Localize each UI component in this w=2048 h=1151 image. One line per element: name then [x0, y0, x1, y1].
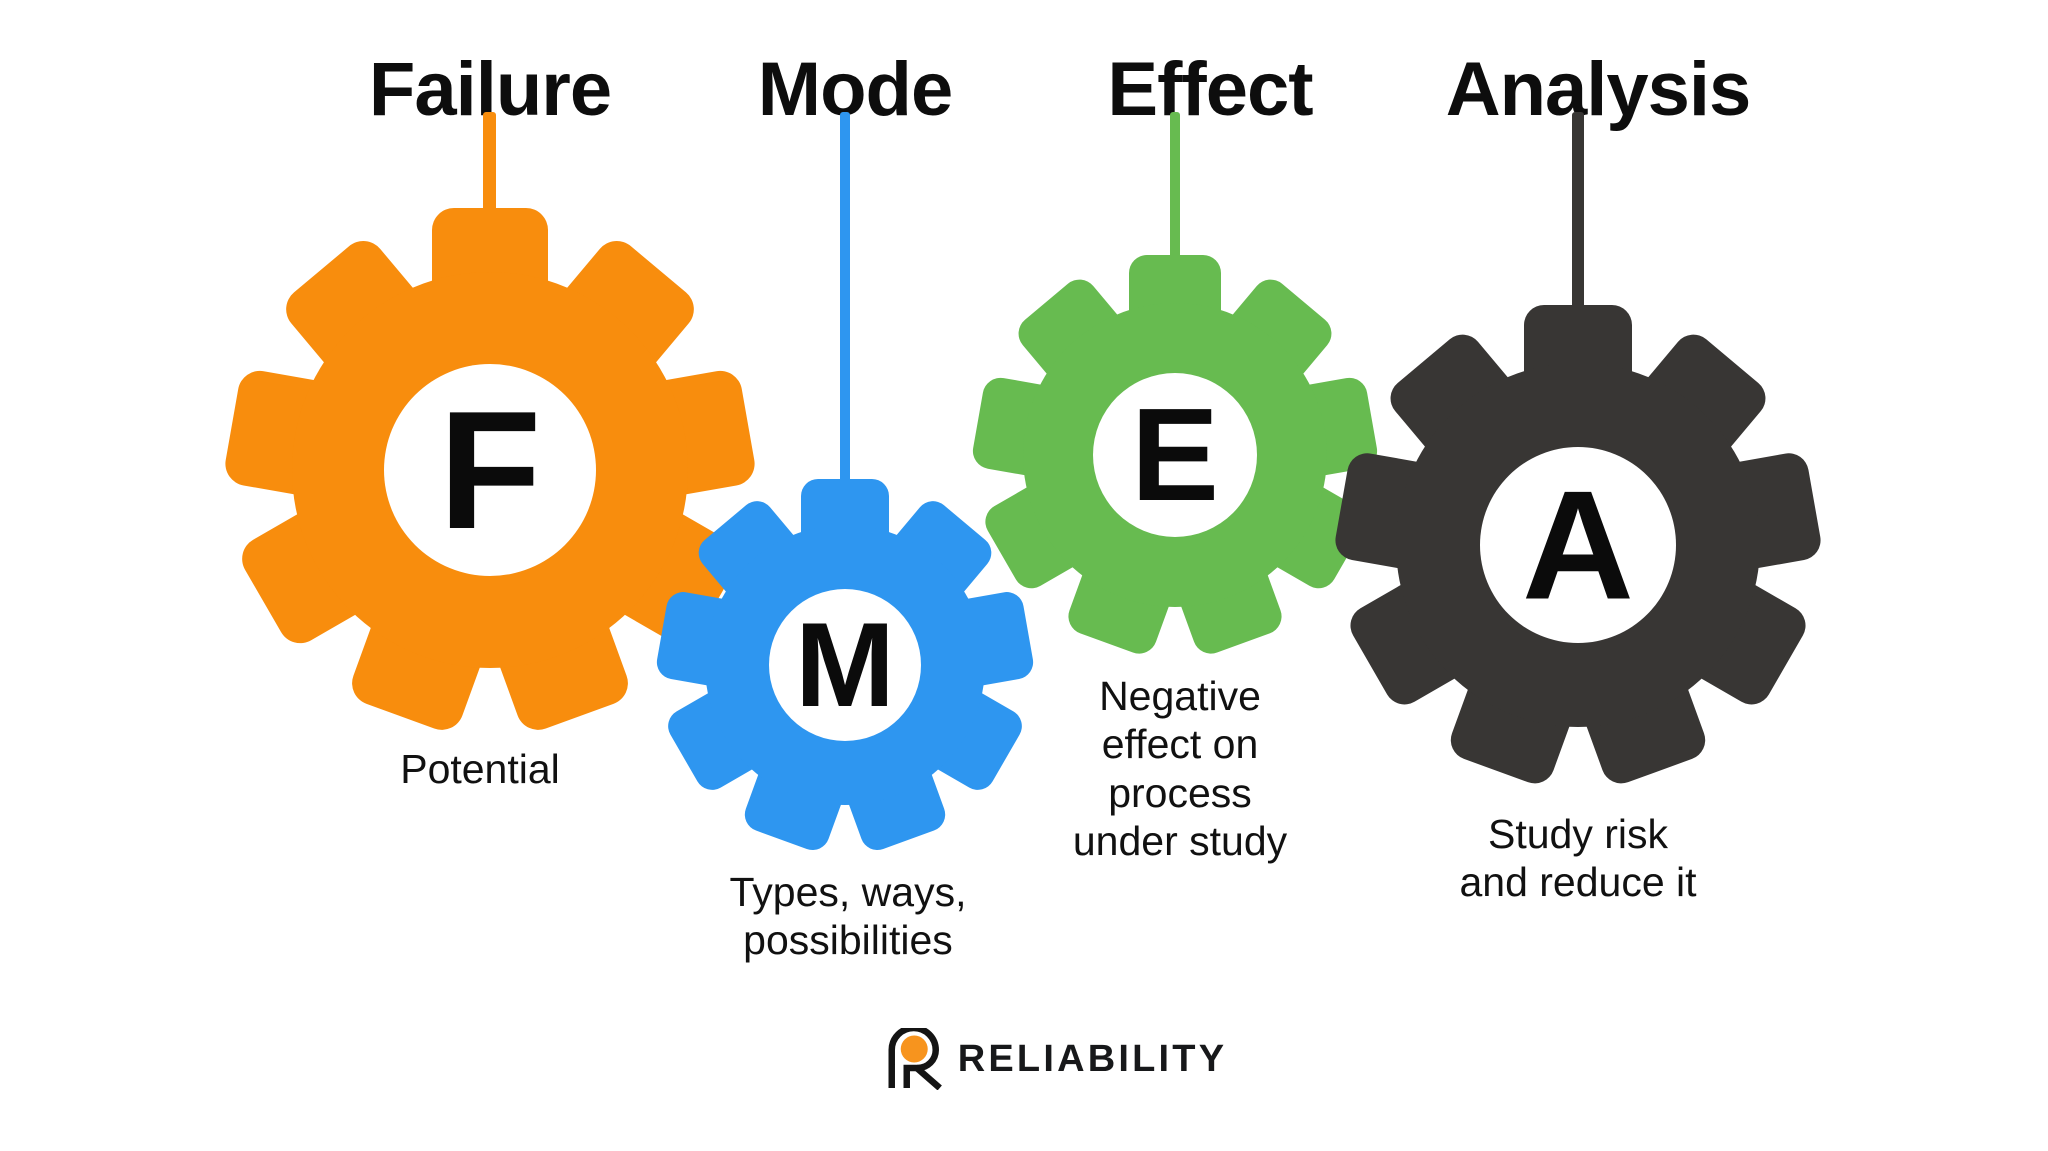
logo-wordmark: RELIABILITY	[958, 1040, 1228, 1078]
gear-mode-stem	[840, 112, 850, 502]
gear-mode-stem-group	[840, 112, 850, 502]
caption-effect: Negative effect on process under study	[1073, 672, 1287, 866]
gear-mode-shape	[635, 112, 1055, 892]
reliability-r-mark-icon	[883, 1028, 945, 1090]
gear-analysis-letter: A	[1522, 468, 1634, 623]
gear-mode-letter: M	[795, 605, 895, 725]
logo-r-leg	[916, 1067, 940, 1088]
gear-mode: M	[635, 112, 1055, 892]
gear-analysis-stem-group	[1572, 112, 1584, 312]
logo-accent-circle	[901, 1036, 928, 1063]
gear-analysis-stem	[1572, 112, 1584, 312]
caption-analysis: Study risk and reduce it	[1459, 810, 1696, 907]
reliability-logo[interactable]: RELIABILITY	[883, 1028, 1228, 1090]
infographic-canvas: Failure Mode Effect Analysis	[0, 0, 2048, 1151]
gear-failure-letter: F	[439, 386, 542, 554]
caption-failure: Potential	[400, 745, 560, 793]
gear-effect-letter: E	[1131, 389, 1219, 521]
gear-analysis: A	[1318, 112, 1838, 912]
caption-mode: Types, ways, possibilities	[730, 868, 967, 965]
